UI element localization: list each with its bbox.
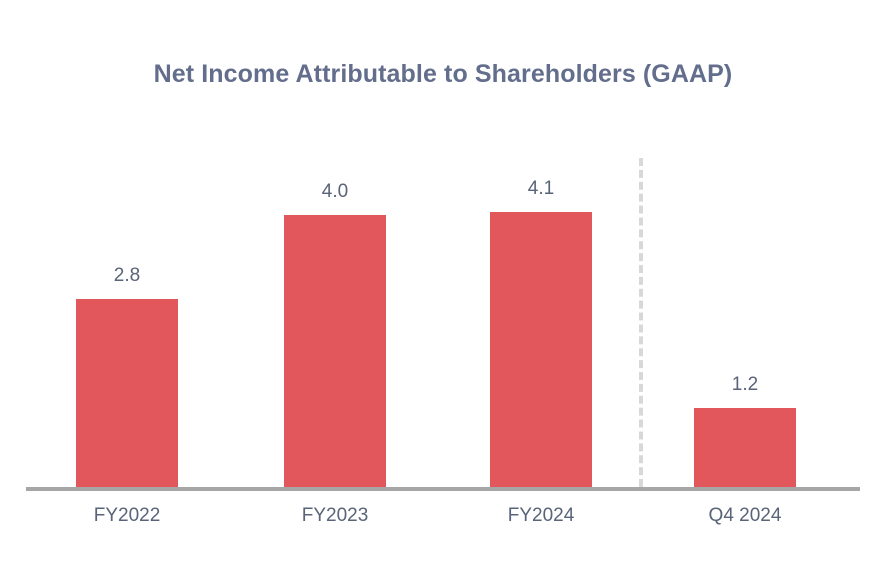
bar-q4-2024[interactable] [694, 408, 796, 487]
plot-area: 2.8 4.0 4.1 1.2 FY2022 FY2023 FY2024 Q4 … [0, 0, 886, 566]
category-label-fy2023: FY2023 [255, 505, 415, 527]
category-axis-line [26, 487, 860, 491]
bar-fy2023[interactable] [284, 215, 386, 487]
bar-value-label: 1.2 [694, 374, 796, 396]
category-label-fy2022: FY2022 [47, 505, 207, 527]
chart-slide: Net Income Attributable to Shareholders … [0, 0, 886, 566]
bar-value-label: 4.1 [490, 178, 592, 200]
category-label-q4-2024: Q4 2024 [665, 505, 825, 527]
bar-fy2024[interactable] [490, 212, 592, 487]
bar-value-label: 2.8 [76, 265, 178, 287]
bar-fy2022[interactable] [76, 299, 178, 487]
category-label-fy2024: FY2024 [461, 505, 621, 527]
period-separator-dashed-line [639, 158, 643, 487]
bar-value-label: 4.0 [284, 181, 386, 203]
